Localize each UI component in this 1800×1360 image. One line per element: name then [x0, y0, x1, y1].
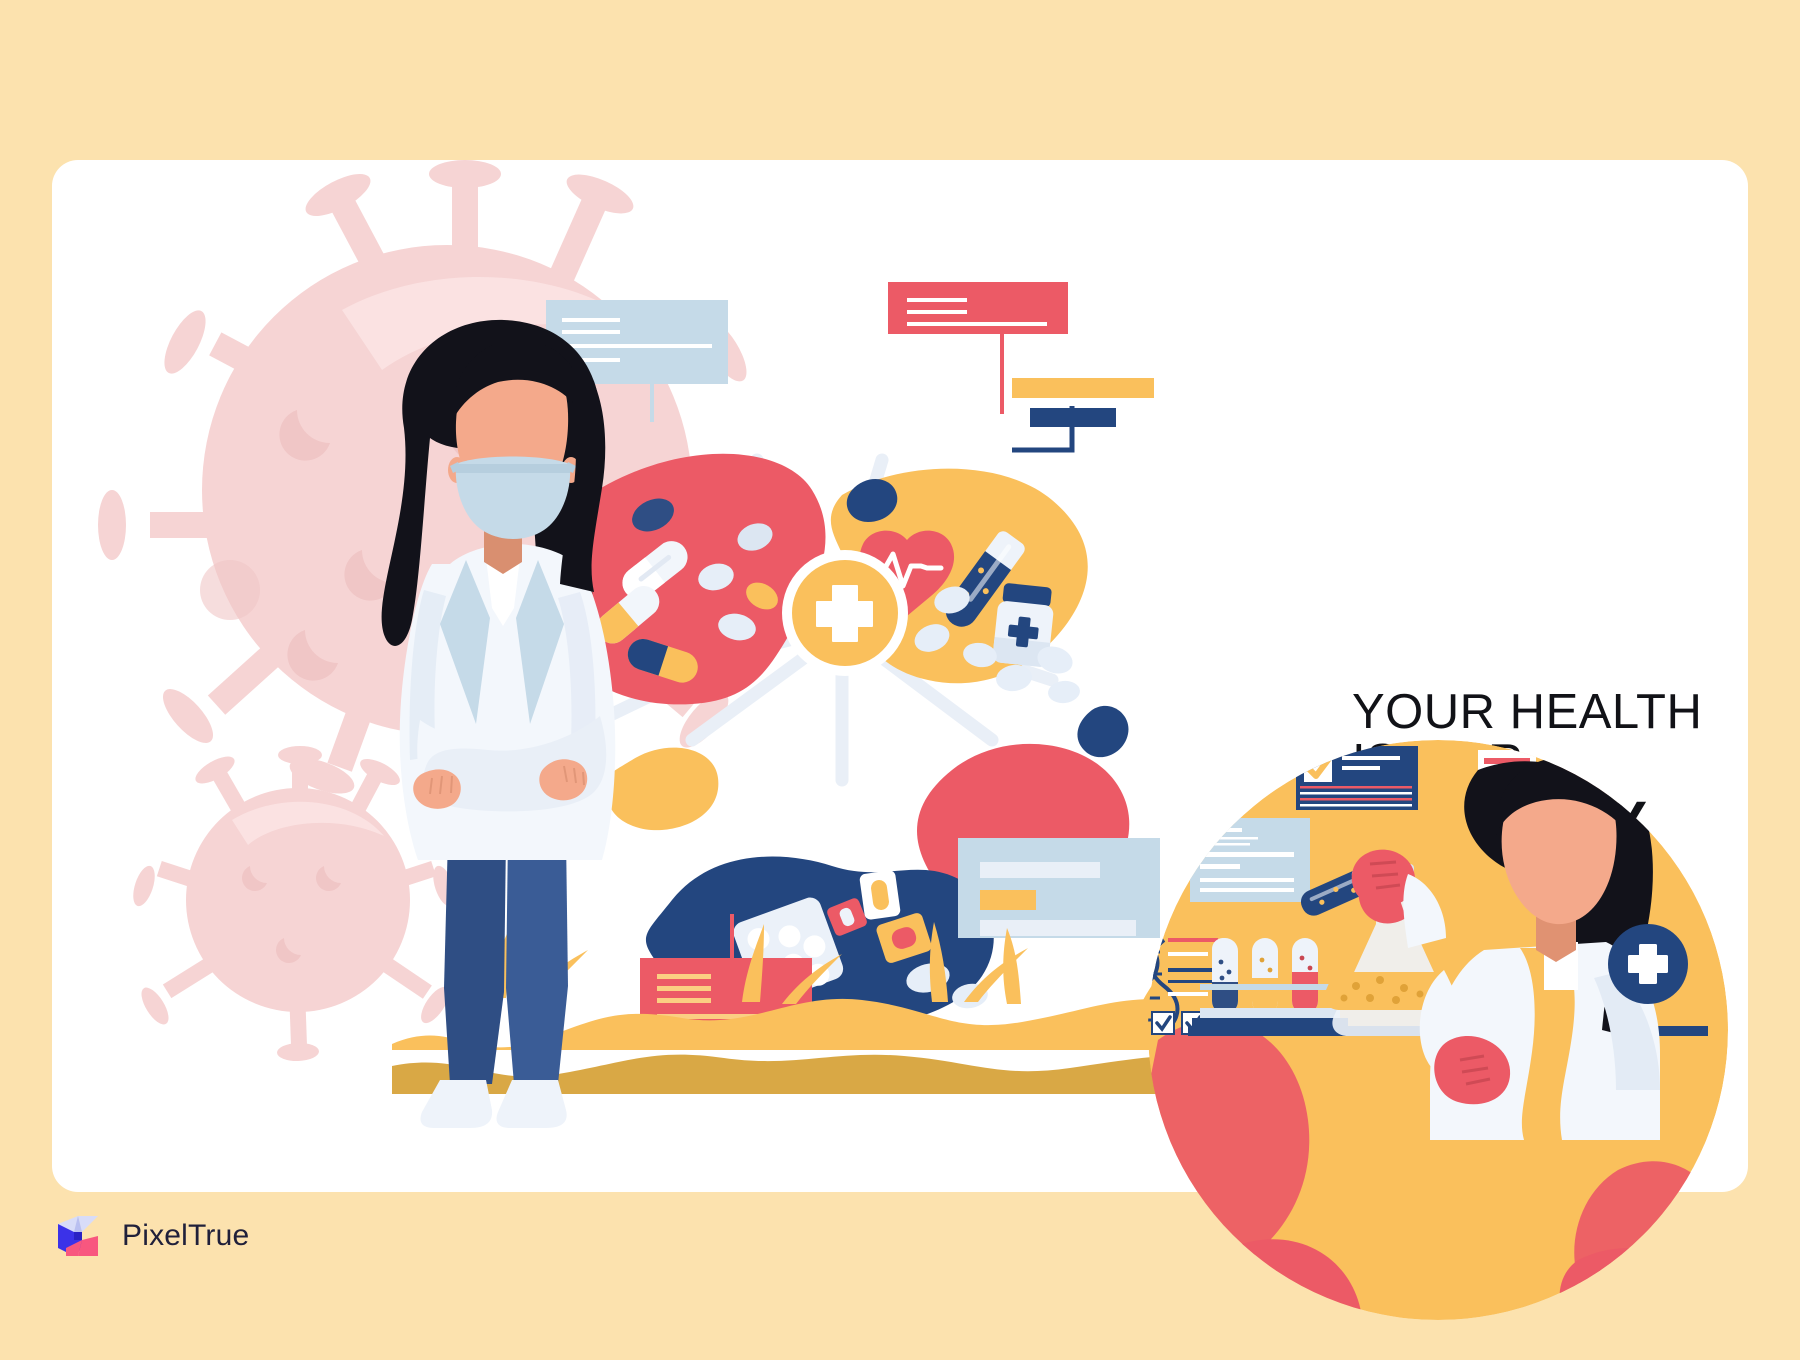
brand-name: PixelTrue	[122, 1219, 249, 1253]
poster-stage: YOUR HEALTH IS OUR PRIORITY	[0, 0, 1800, 1360]
callout-tab-navy[interactable]	[1030, 408, 1116, 427]
brand-footer[interactable]: PixelTrue	[52, 1210, 249, 1262]
pixeltrue-logo-icon[interactable]	[52, 1210, 104, 1262]
accent-navy-right	[1077, 706, 1128, 757]
report-card-blue	[1190, 818, 1310, 902]
callout-card-blue-bottom[interactable]	[958, 838, 1160, 938]
accent-blob-yellow-left	[608, 748, 718, 831]
leaf-yellow-bottom-right	[1604, 1295, 1714, 1320]
masked-female-doctor	[382, 320, 616, 1128]
lab-scientist-circle	[1148, 740, 1728, 1320]
plus-badge[interactable]	[1608, 924, 1688, 1004]
headline-line-1: YOUR HEALTH	[1352, 688, 1748, 738]
medical-cross-hub[interactable]	[782, 550, 908, 676]
leaf-navy-bottom-left	[1168, 1295, 1308, 1320]
leaf-red-bottom-right	[1559, 1248, 1719, 1320]
checklist-card-navy	[1296, 746, 1418, 810]
